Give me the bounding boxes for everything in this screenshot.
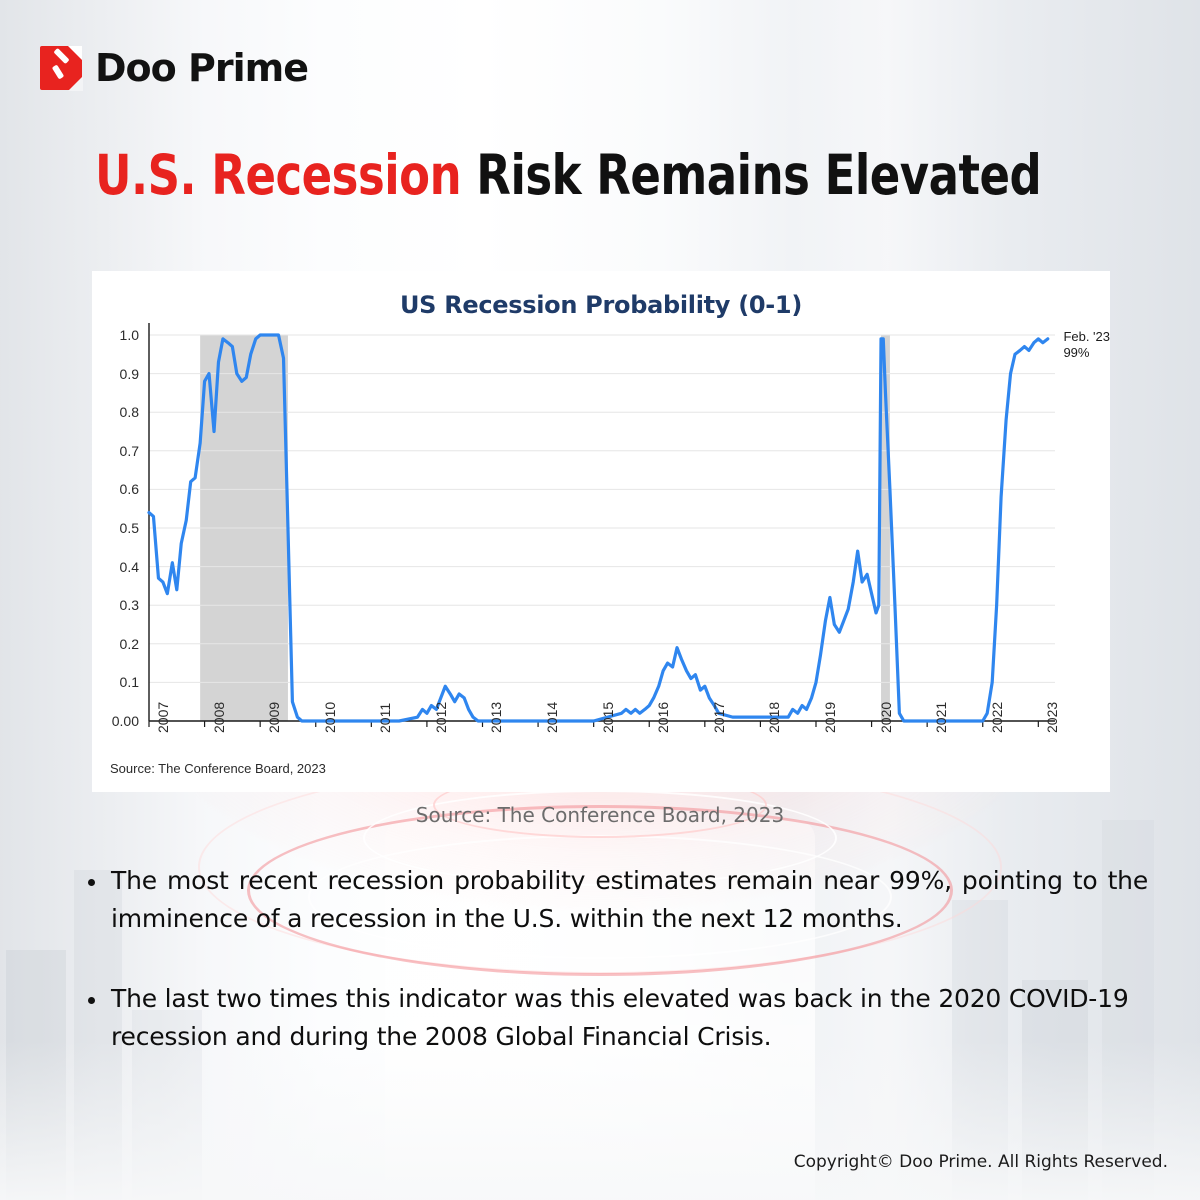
list-item: The most recent recession probability es… bbox=[88, 862, 1148, 938]
x-axis-tick-label: 2019 bbox=[822, 702, 838, 733]
y-axis-tick-label: 0.3 bbox=[120, 597, 139, 613]
x-axis-tick-label: 2015 bbox=[600, 702, 616, 733]
y-axis-tick-label: 0.8 bbox=[120, 404, 139, 420]
bullet-dot-icon bbox=[88, 879, 95, 886]
page-title: U.S. Recession Risk Remains Elevated bbox=[95, 143, 1105, 208]
page-title-highlight: U.S. Recession bbox=[95, 143, 461, 208]
x-axis-tick-label: 2017 bbox=[711, 702, 727, 733]
x-axis-tick-label: 2011 bbox=[377, 703, 393, 733]
brand-logo: Doo Prime bbox=[40, 46, 308, 90]
page-title-rest: Risk Remains Elevated bbox=[461, 143, 1041, 208]
y-axis-tick-label: 0.2 bbox=[120, 636, 139, 652]
x-axis-tick-label: 2008 bbox=[211, 702, 227, 733]
last-value-label: Feb. '2399% bbox=[1063, 329, 1110, 362]
y-axis-tick-label: 0.6 bbox=[120, 481, 139, 497]
x-axis-tick-label: 2013 bbox=[488, 702, 504, 733]
y-axis-tick-label: 0.9 bbox=[120, 366, 139, 382]
y-axis-tick-label: 0.5 bbox=[120, 520, 139, 536]
y-axis-tick-label: 1.0 bbox=[120, 327, 139, 343]
bullet-dot-icon bbox=[88, 997, 95, 1004]
source-caption: Source: The Conference Board, 2023 bbox=[0, 803, 1200, 827]
bullet-text: The most recent recession probability es… bbox=[111, 862, 1148, 938]
x-axis-tick-label: 2016 bbox=[655, 702, 671, 733]
x-axis-tick-label: 2020 bbox=[878, 702, 894, 733]
chart-plot-area: 1.00.90.80.70.60.50.40.30.20.10.00200720… bbox=[92, 271, 1110, 792]
list-item: The last two times this indicator was th… bbox=[88, 980, 1148, 1056]
x-axis-tick-label: 2007 bbox=[155, 702, 171, 733]
annotation-value: 99% bbox=[1063, 345, 1110, 361]
bullet-list: The most recent recession probability es… bbox=[88, 862, 1148, 1098]
bullet-text: The last two times this indicator was th… bbox=[111, 980, 1148, 1056]
x-axis-tick-label: 2023 bbox=[1044, 702, 1060, 733]
chart-card: US Recession Probability (0-1) 1.00.90.8… bbox=[92, 271, 1110, 792]
doo-prime-logo-icon bbox=[40, 46, 82, 90]
x-axis-tick-label: 2014 bbox=[544, 702, 560, 733]
annotation-date: Feb. '23 bbox=[1063, 329, 1110, 345]
y-axis-tick-label: 0.1 bbox=[120, 674, 139, 690]
y-axis-tick-label: 0.7 bbox=[120, 443, 139, 459]
y-axis-tick-label: 0.00 bbox=[112, 713, 139, 729]
x-axis-tick-label: 2012 bbox=[433, 702, 449, 733]
x-axis-tick-label: 2010 bbox=[322, 702, 338, 733]
y-axis-tick-label: 0.4 bbox=[120, 559, 139, 575]
brand-name: Doo Prime bbox=[95, 46, 308, 90]
x-axis-tick-label: 2022 bbox=[989, 702, 1005, 733]
chart-source-note: Source: The Conference Board, 2023 bbox=[110, 761, 326, 776]
x-axis-tick-label: 2021 bbox=[933, 702, 949, 733]
copyright-footer: Copyright© Doo Prime. All Rights Reserve… bbox=[794, 1152, 1168, 1172]
x-axis-tick-label: 2018 bbox=[766, 702, 782, 733]
x-axis-tick-label: 2009 bbox=[266, 702, 282, 733]
